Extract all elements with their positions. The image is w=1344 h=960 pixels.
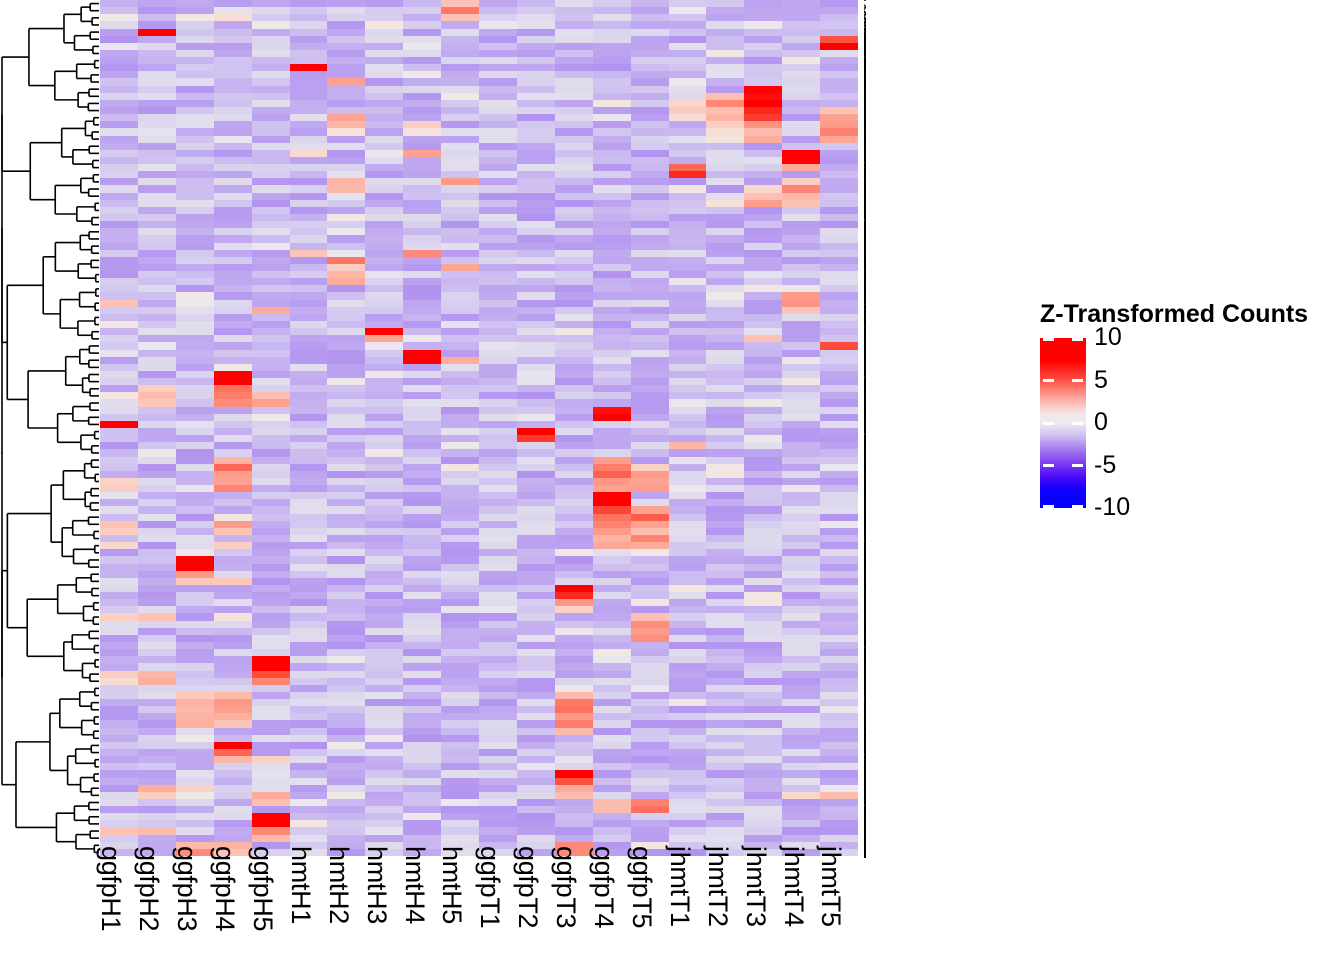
dendrogram-svg — [0, 0, 99, 856]
column-label-ggfph4: ggfpH4 — [206, 846, 244, 950]
column-label-ggfph5: ggfpH5 — [244, 846, 282, 950]
heatmap-figure: ggfpH1ggfpH2ggfpH3ggfpH4ggfpH5hmtH1hmtH2… — [0, 0, 1344, 960]
column-axis-labels: ggfpH1ggfpH2ggfpH3ggfpH4ggfpH5hmtH1hmtH2… — [100, 856, 858, 960]
legend-tick-mark — [1043, 505, 1054, 508]
legend-tick-mark — [1072, 338, 1083, 341]
column-label-hmth4: hmtH4 — [396, 846, 434, 950]
legend-tick-mark — [1072, 505, 1083, 508]
row-label: LOC120884580 — [864, 848, 866, 858]
column-label-ggfph3: ggfpH3 — [168, 846, 206, 950]
column-label-ggfpt2: ggfpT2 — [509, 846, 547, 950]
column-label-ggfph1: ggfpH1 — [92, 846, 130, 950]
legend-tick-mark — [1043, 422, 1054, 425]
legend-tick-mark — [1043, 379, 1054, 382]
column-label-jhmtt5: jhmtT5 — [812, 846, 850, 950]
heatmap-body[interactable] — [100, 0, 858, 856]
legend-tick-label-10: 10 — [1094, 325, 1122, 350]
legend-tick-mark — [1072, 422, 1083, 425]
column-label-hmth5: hmtH5 — [433, 846, 471, 950]
column-label-ggfpt4: ggfpT4 — [585, 846, 623, 950]
column-label-jhmtt2: jhmtT2 — [699, 846, 737, 950]
column-label-hmth3: hmtH3 — [358, 846, 396, 950]
legend: Z-Transformed Counts 1050-5-10 — [1038, 300, 1338, 520]
heatmap-canvas[interactable] — [100, 0, 858, 856]
row-axis-labels: LOC120899702LOC120895514LOC120887321LOC1… — [864, 0, 1016, 858]
column-label-ggfpt5: ggfpT5 — [623, 846, 661, 950]
legend-tick-mark — [1072, 464, 1083, 467]
legend-tick-label--10: -10 — [1094, 495, 1130, 520]
legend-colorbar-wrap — [1040, 338, 1086, 508]
column-label-jhmtt1: jhmtT1 — [661, 846, 699, 950]
legend-title: Z-Transformed Counts — [1040, 300, 1308, 329]
column-label-ggfpt1: ggfpT1 — [471, 846, 509, 950]
column-label-ggfph2: ggfpH2 — [130, 846, 168, 950]
legend-tick-label-0: 0 — [1094, 410, 1108, 435]
legend-tick-label--5: -5 — [1094, 453, 1116, 478]
legend-tick-mark — [1072, 379, 1083, 382]
legend-tick-mark — [1043, 464, 1054, 467]
column-label-jhmtt4: jhmtT4 — [775, 846, 813, 950]
column-label-jhmtt3: jhmtT3 — [737, 846, 775, 950]
column-label-ggfpt3: ggfpT3 — [547, 846, 585, 950]
legend-tick-label-5: 5 — [1094, 368, 1108, 393]
column-label-hmth1: hmtH1 — [282, 846, 320, 950]
legend-tick-mark — [1043, 338, 1054, 341]
row-dendrogram — [0, 0, 99, 856]
column-label-hmth2: hmtH2 — [320, 846, 358, 950]
